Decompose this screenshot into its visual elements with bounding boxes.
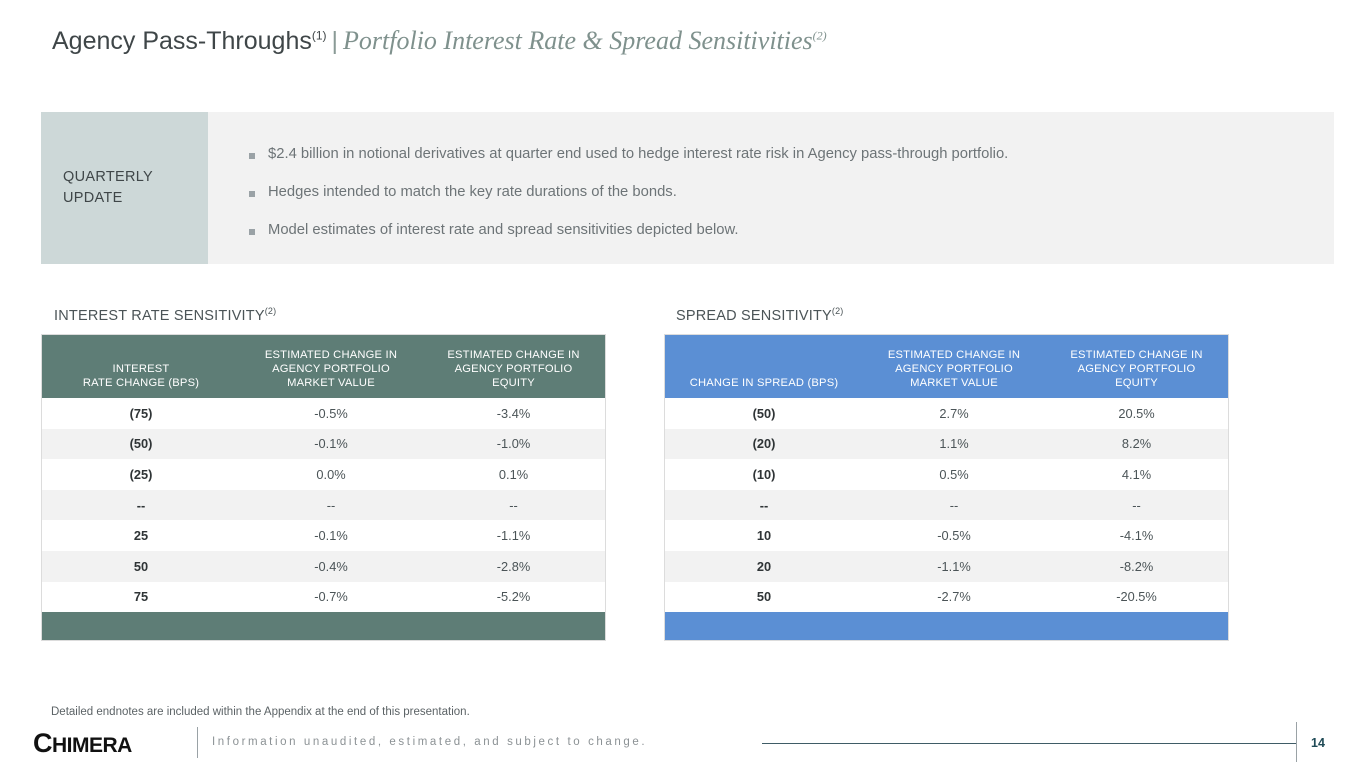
table-row: 20 -1.1% -8.2%	[665, 551, 1228, 582]
page-number: 14	[1311, 736, 1325, 750]
cell-market-value: --	[240, 498, 422, 513]
cell-market-value: --	[863, 498, 1045, 513]
cell-equity: -20.5%	[1045, 589, 1228, 604]
page-title-main: Agency Pass-Throughs	[52, 27, 312, 55]
section-label-superscript: (2)	[265, 306, 277, 316]
logo-rest: HIMERA	[52, 734, 132, 757]
page-title: Agency Pass-Throughs(1)|Portfolio Intere…	[52, 25, 827, 57]
square-bullet-icon	[249, 153, 255, 159]
cell-equity: 4.1%	[1045, 467, 1228, 482]
cell-bps-change: (10)	[665, 467, 863, 482]
column-header: ESTIMATED CHANGE INAGENCY PORTFOLIOMARKE…	[240, 335, 422, 398]
cell-equity: --	[1045, 498, 1228, 513]
cell-market-value: -0.4%	[240, 559, 422, 574]
bullet-text: Model estimates of interest rate and spr…	[268, 221, 738, 240]
cell-market-value: -0.1%	[240, 528, 422, 543]
cell-equity: --	[422, 498, 605, 513]
cell-equity: 0.1%	[422, 467, 605, 482]
interest-rate-sensitivity-table: INTERESTRATE CHANGE (BPS) ESTIMATED CHAN…	[41, 334, 606, 641]
table-footer-bar	[665, 612, 1228, 640]
section-label-text: INTEREST RATE SENSITIVITY	[54, 308, 265, 324]
table-header-row: INTERESTRATE CHANGE (BPS) ESTIMATED CHAN…	[42, 335, 605, 398]
page-title-main-superscript: (1)	[312, 29, 327, 43]
table-row: -- -- --	[665, 490, 1228, 521]
column-header: ESTIMATED CHANGE INAGENCY PORTFOLIOMARKE…	[863, 335, 1045, 398]
cell-bps-change: 50	[42, 559, 240, 574]
cell-bps-change: --	[42, 498, 240, 513]
cell-market-value: 2.7%	[863, 406, 1045, 421]
cell-market-value: -0.1%	[240, 436, 422, 451]
table-row: 50 -0.4% -2.8%	[42, 551, 605, 582]
page-subtitle: Portfolio Interest Rate & Spread Sensiti…	[343, 26, 827, 55]
list-item: Hedges intended to match the key rate du…	[249, 183, 1334, 202]
section-label-text: SPREAD SENSITIVITY	[676, 308, 832, 324]
bullet-text: Hedges intended to match the key rate du…	[268, 183, 677, 202]
cell-bps-change: 25	[42, 528, 240, 543]
cell-market-value: 0.5%	[863, 467, 1045, 482]
table-row: 75 -0.7% -5.2%	[42, 582, 605, 613]
column-header: ESTIMATED CHANGE INAGENCY PORTFOLIOEQUIT…	[422, 335, 605, 398]
page-subtitle-superscript: (2)	[813, 28, 827, 42]
table-row: (20) 1.1% 8.2%	[665, 429, 1228, 460]
quarterly-update-label-box: QUARTERLY UPDATE	[41, 112, 208, 264]
footer-rule	[762, 743, 1296, 744]
logo-initial: C	[33, 728, 52, 758]
table-row: 50 -2.7% -20.5%	[665, 582, 1228, 613]
section-label-superscript: (2)	[832, 306, 844, 316]
cell-bps-change: --	[665, 498, 863, 513]
cell-bps-change: (20)	[665, 436, 863, 451]
quarterly-update-band: QUARTERLY UPDATE $2.4 billion in notiona…	[41, 112, 1334, 264]
table-row: (10) 0.5% 4.1%	[665, 459, 1228, 490]
table-row: (75) -0.5% -3.4%	[42, 398, 605, 429]
cell-bps-change: (25)	[42, 467, 240, 482]
footer-disclaimer: Information unaudited, estimated, and su…	[212, 736, 647, 748]
cell-equity: -1.0%	[422, 436, 605, 451]
cell-bps-change: (50)	[42, 436, 240, 451]
spread-sensitivity-table: CHANGE IN SPREAD (BPS) ESTIMATED CHANGE …	[664, 334, 1229, 641]
cell-market-value: -0.7%	[240, 589, 422, 604]
column-header: ESTIMATED CHANGE INAGENCY PORTFOLIOEQUIT…	[1045, 335, 1228, 398]
table-footer-bar	[42, 612, 605, 640]
endnote-text: Detailed endnotes are included within th…	[51, 706, 470, 718]
table-row: -- -- --	[42, 490, 605, 521]
footer-divider	[197, 727, 198, 758]
section-label-interest-rate-sensitivity: INTEREST RATE SENSITIVITY(2)	[54, 308, 276, 324]
section-label-spread-sensitivity: SPREAD SENSITIVITY(2)	[676, 308, 844, 324]
square-bullet-icon	[249, 229, 255, 235]
table-row: (25) 0.0% 0.1%	[42, 459, 605, 490]
bullet-text: $2.4 billion in notional derivatives at …	[268, 145, 1008, 164]
cell-bps-change: 20	[665, 559, 863, 574]
column-header: CHANGE IN SPREAD (BPS)	[665, 335, 863, 398]
cell-bps-change: 10	[665, 528, 863, 543]
table-row: 25 -0.1% -1.1%	[42, 520, 605, 551]
cell-market-value: -0.5%	[863, 528, 1045, 543]
cell-equity: 20.5%	[1045, 406, 1228, 421]
table-header-row: CHANGE IN SPREAD (BPS) ESTIMATED CHANGE …	[665, 335, 1228, 398]
square-bullet-icon	[249, 191, 255, 197]
cell-equity: -3.4%	[422, 406, 605, 421]
title-divider: |	[327, 27, 344, 55]
cell-bps-change: (50)	[665, 406, 863, 421]
table-row: (50) 2.7% 20.5%	[665, 398, 1228, 429]
cell-market-value: -1.1%	[863, 559, 1045, 574]
list-item: $2.4 billion in notional derivatives at …	[249, 145, 1334, 164]
chimera-logo: CHIMERA	[33, 728, 132, 761]
footer-tick-divider	[1296, 722, 1297, 762]
cell-equity: 8.2%	[1045, 436, 1228, 451]
cell-equity: -2.8%	[422, 559, 605, 574]
list-item: Model estimates of interest rate and spr…	[249, 221, 1334, 240]
cell-equity: -5.2%	[422, 589, 605, 604]
cell-market-value: -2.7%	[863, 589, 1045, 604]
table-row: 10 -0.5% -4.1%	[665, 520, 1228, 551]
table-row: (50) -0.1% -1.0%	[42, 429, 605, 460]
cell-equity: -4.1%	[1045, 528, 1228, 543]
page-subtitle-text: Portfolio Interest Rate & Spread Sensiti…	[343, 26, 813, 55]
cell-market-value: 1.1%	[863, 436, 1045, 451]
column-header: INTERESTRATE CHANGE (BPS)	[42, 335, 240, 398]
slide: Agency Pass-Throughs(1)|Portfolio Intere…	[0, 0, 1365, 768]
cell-market-value: 0.0%	[240, 467, 422, 482]
cell-market-value: -0.5%	[240, 406, 422, 421]
cell-bps-change: 75	[42, 589, 240, 604]
cell-bps-change: (75)	[42, 406, 240, 421]
cell-equity: -1.1%	[422, 528, 605, 543]
quarterly-update-bullet-list: $2.4 billion in notional derivatives at …	[208, 112, 1334, 264]
quarterly-update-label: QUARTERLY UPDATE	[63, 167, 208, 209]
cell-bps-change: 50	[665, 589, 863, 604]
cell-equity: -8.2%	[1045, 559, 1228, 574]
